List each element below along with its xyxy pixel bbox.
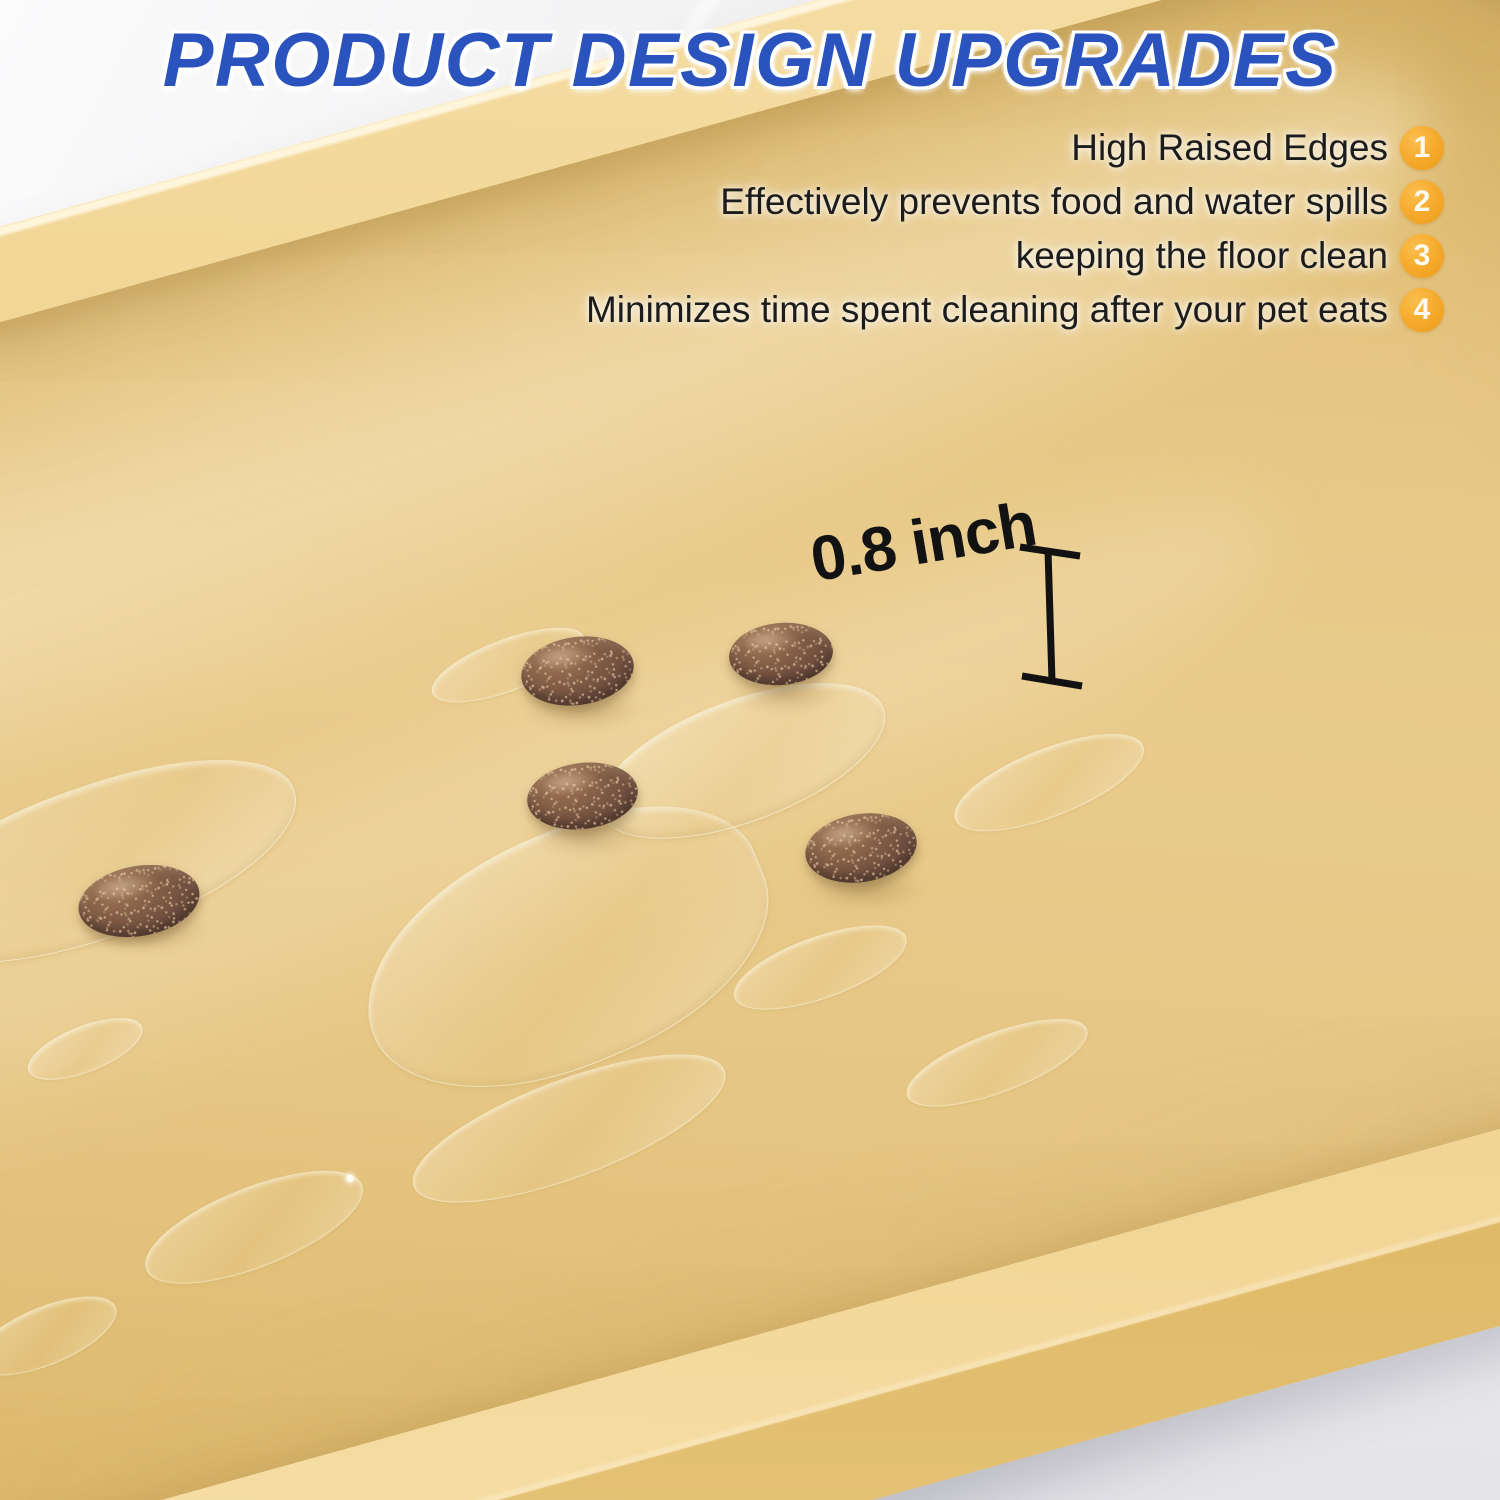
feature-label: Effectively prevents food and water spil…	[720, 181, 1388, 223]
water-droplet	[20, 1005, 150, 1093]
feature-number-badge: 2	[1400, 180, 1444, 224]
water-droplet	[897, 1001, 1098, 1124]
feature-list: High Raised Edges 1 Effectively prevents…	[504, 126, 1444, 332]
feature-item: Minimizes time spent cleaning after your…	[586, 288, 1444, 332]
water-puddle	[0, 723, 320, 1001]
feature-number-badge: 3	[1400, 234, 1444, 278]
product-marketing-image: 0.8 inch PRODUCT DESIGN UPGRADES High Ra…	[0, 0, 1500, 1500]
dimension-ibeam-icon	[1008, 536, 1088, 694]
feature-label: High Raised Edges	[1071, 127, 1388, 169]
feature-item: keeping the floor clean 3	[1016, 234, 1444, 278]
water-droplet	[131, 1148, 376, 1307]
feature-label: Minimizes time spent cleaning after your…	[586, 289, 1388, 331]
feature-item: High Raised Edges 1	[1071, 126, 1444, 170]
water-droplet	[943, 714, 1156, 851]
feature-number-badge: 4	[1400, 288, 1444, 332]
feature-label: keeping the floor clean	[1016, 235, 1388, 277]
page-title: PRODUCT DESIGN UPGRADES	[0, 17, 1500, 104]
feature-item: Effectively prevents food and water spil…	[720, 180, 1444, 224]
water-droplet	[0, 1280, 127, 1392]
feature-number-badge: 1	[1400, 126, 1444, 170]
